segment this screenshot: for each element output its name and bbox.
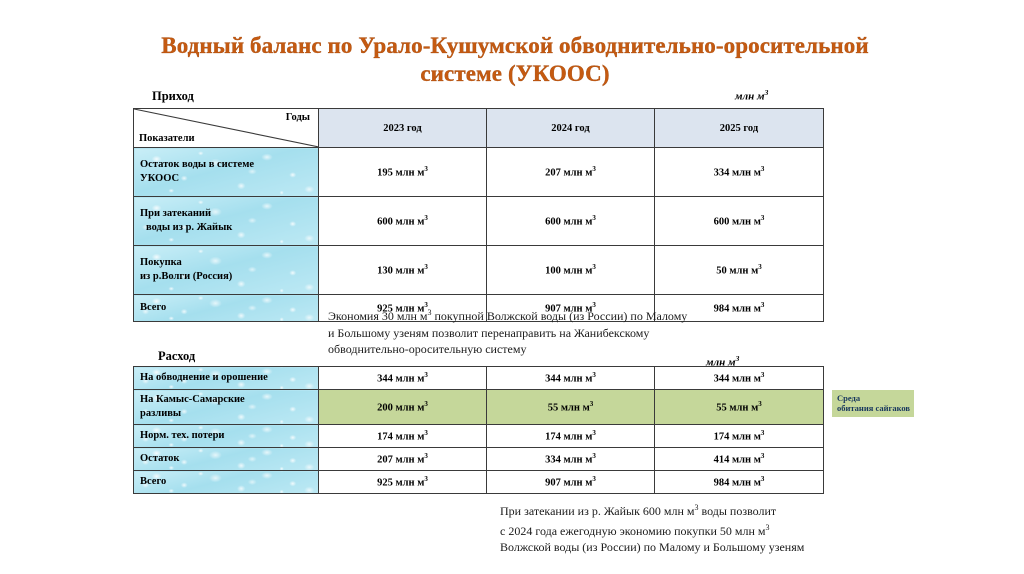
expense-row-label-1-line1: На Камыс-Самарские (140, 393, 318, 407)
expense-cell-4-2023-text: 925 млн м (377, 478, 424, 489)
expense-cell-3-2023-text: 207 млн м (377, 455, 424, 466)
expense-row-label-4: Всего (134, 471, 319, 494)
expense-cell-1-2023-sup: 3 (424, 400, 428, 408)
income-row-label-1-line1: При затеканий (140, 207, 318, 221)
expense-cell-2-2024-text: 174 млн м (545, 432, 592, 443)
income-cell-2-2024: 100 млн м3 (487, 246, 655, 295)
income-row-label-1: При затеканий воды из р. Жайык (134, 197, 319, 246)
expense-row-label-3: Остаток (134, 448, 319, 471)
expense-cell-1-2025-sup: 3 (758, 400, 762, 408)
income-header-row: Годы Показатели 2023 год 2024 год 2025 г… (134, 109, 824, 148)
income-cell-1-2023-text: 600 млн м (377, 217, 424, 228)
expense-cell-4-2025-sup: 3 (761, 475, 765, 483)
income-cell-1-2025-sup: 3 (761, 214, 765, 222)
expense-cell-3-2025-sup: 3 (761, 452, 765, 460)
expense-cell-3-2023-sup: 3 (424, 452, 428, 460)
expense-row-label-1-line2: разливы (140, 407, 318, 421)
expense-cell-1-2025: 55 млн м3 (655, 390, 824, 425)
income-cell-2-2025: 50 млн м3 (655, 246, 824, 295)
income-row-label-3: Всего (134, 295, 319, 322)
income-cell-1-2024: 600 млн м3 (487, 197, 655, 246)
expense-cell-4-2024: 907 млн м3 (487, 471, 655, 494)
middle-note-line-2: и Большому узеням позволит перенаправить… (328, 325, 868, 342)
table-row: На обводнение и орошение 344 млн м3 344 … (134, 367, 824, 390)
income-row-label-2: Покупка из р.Волги (Россия) (134, 246, 319, 295)
expense-cell-4-2025: 984 млн м3 (655, 471, 824, 494)
expense-cell-1-2024: 55 млн м3 (487, 390, 655, 425)
expense-cell-0-2025-sup: 3 (761, 371, 765, 379)
middle-note-line-1a: Экономия 30 млн м (328, 309, 427, 323)
expense-cell-2-2023-sup: 3 (424, 429, 428, 437)
expense-cell-0-2024-text: 344 млн м (545, 374, 592, 385)
table-row: При затеканий воды из р. Жайык 600 млн м… (134, 197, 824, 246)
income-row-label-2-line2: из р.Волги (Россия) (140, 270, 318, 284)
header-label-indicators: Показатели (139, 133, 195, 144)
saiga-habitat-callout: Среда обитания сайгаков (832, 390, 914, 417)
income-row-label-0: Остаток воды в системе УКООС (134, 148, 319, 197)
table-row: Остаток 207 млн м3 334 млн м3 414 млн м3 (134, 448, 824, 471)
expense-cell-1-2025-text: 55 млн м (716, 403, 758, 414)
income-cell-0-2024-sup: 3 (592, 165, 596, 173)
expense-cell-1-2024-sup: 3 (590, 400, 594, 408)
expense-cell-2-2023: 174 млн м3 (319, 425, 487, 448)
expense-row-label-3-line1: Остаток (140, 452, 318, 466)
table-row: Всего 925 млн м3 907 млн м3 984 млн м3 (134, 471, 824, 494)
income-cell-0-2025: 334 млн м3 (655, 148, 824, 197)
header-corner-cell: Годы Показатели (134, 109, 319, 148)
expense-cell-4-2025-text: 984 млн м (714, 478, 761, 489)
expense-row-label-0-line1: На обводнение и орошение (140, 371, 318, 385)
income-row-label-3-line1: Всего (140, 301, 318, 315)
income-cell-1-2025-text: 600 млн м (714, 217, 761, 228)
income-cell-1-2024-sup: 3 (592, 214, 596, 222)
income-units-label: млн м3 (735, 88, 768, 103)
expense-cell-2-2024-sup: 3 (592, 429, 596, 437)
expense-cell-1-2024-text: 55 млн м (548, 403, 590, 414)
income-cell-0-2023-text: 195 млн м (377, 168, 424, 179)
expense-cell-2-2025-text: 174 млн м (714, 432, 761, 443)
income-table: Годы Показатели 2023 год 2024 год 2025 г… (133, 108, 824, 322)
income-cell-2-2025-text: 50 млн м (716, 266, 758, 277)
middle-note-line-1: Экономия 30 млн м3 покупной Волжской вод… (328, 305, 868, 325)
income-units-text: млн м (735, 91, 765, 103)
income-cell-2-2023-sup: 3 (424, 263, 428, 271)
middle-note-line-1b: покупной Волжской воды (из России) по Ма… (431, 309, 687, 323)
income-cell-2-2023: 130 млн м3 (319, 246, 487, 295)
income-cell-0-2023: 195 млн м3 (319, 148, 487, 197)
income-cell-0-2025-sup: 3 (761, 165, 765, 173)
expense-cell-3-2024: 334 млн м3 (487, 448, 655, 471)
expense-cell-0-2023: 344 млн м3 (319, 367, 487, 390)
income-cell-1-2024-text: 600 млн м (545, 217, 592, 228)
expense-cell-4-2023-sup: 3 (424, 475, 428, 483)
income-row-label-2-line1: Покупка (140, 256, 318, 270)
middle-note-line-3: обводнительно-оросительную систему (328, 341, 868, 358)
income-cell-1-2023-sup: 3 (424, 214, 428, 222)
expense-cell-0-2025: 344 млн м3 (655, 367, 824, 390)
table-row: Покупка из р.Волги (Россия) 130 млн м3 1… (134, 246, 824, 295)
income-section-caption: Приход (152, 89, 194, 104)
header-label-years: Годы (286, 112, 310, 123)
saiga-callout-line-1: Среда (837, 393, 910, 403)
bottom-note-line-1b: воды позволит (699, 504, 777, 518)
income-header-year-2024: 2024 год (487, 109, 655, 148)
income-units-sup: 3 (765, 88, 769, 97)
expense-cell-1-2023-text: 200 млн м (377, 403, 424, 414)
income-row-label-1-line2: воды из р. Жайык (140, 221, 318, 235)
income-cell-2-2024-sup: 3 (592, 263, 596, 271)
expense-cell-0-2025-text: 344 млн м (714, 374, 761, 385)
expense-row-label-1: На Камыс-Самарские разливы (134, 390, 319, 425)
bottom-note-line-1a: При затекании из р. Жайык 600 млн м (500, 504, 695, 518)
expense-cell-1-2023: 200 млн м3 (319, 390, 487, 425)
income-cell-0-2024: 207 млн м3 (487, 148, 655, 197)
expense-row-label-2: Норм. тех. потери (134, 425, 319, 448)
expense-cell-3-2025: 414 млн м3 (655, 448, 824, 471)
expense-cell-3-2024-text: 334 млн м (545, 455, 592, 466)
income-cell-1-2025: 600 млн м3 (655, 197, 824, 246)
expense-cell-4-2024-text: 907 млн м (545, 478, 592, 489)
income-header-year-2023: 2023 год (319, 109, 487, 148)
expense-cell-2-2025-sup: 3 (761, 429, 765, 437)
bottom-note-line-1: При затекании из р. Жайык 600 млн м3 вод… (500, 500, 970, 520)
expense-cell-3-2025-text: 414 млн м (714, 455, 761, 466)
table-row: Остаток воды в системе УКООС 195 млн м3 … (134, 148, 824, 197)
income-cell-0-2025-text: 334 млн м (714, 168, 761, 179)
expense-table: На обводнение и орошение 344 млн м3 344 … (133, 366, 824, 494)
expense-cell-0-2023-sup: 3 (424, 371, 428, 379)
expense-cell-2-2023-text: 174 млн м (377, 432, 424, 443)
income-cell-0-2023-sup: 3 (424, 165, 428, 173)
income-cell-2-2024-text: 100 млн м (545, 266, 592, 277)
income-row-label-0-line1: Остаток воды в системе (140, 158, 318, 172)
bottom-note-line-2: с 2024 года ежегодную экономию покупки 5… (500, 520, 970, 540)
expense-row-label-4-line1: Всего (140, 475, 318, 489)
income-cell-2-2023-text: 130 млн м (377, 266, 424, 277)
income-row-label-0-line2: УКООС (140, 172, 318, 186)
expense-row-label-2-line1: Норм. тех. потери (140, 429, 318, 443)
income-cell-0-2024-text: 207 млн м (545, 168, 592, 179)
bottom-note-line-2-sup: 3 (766, 523, 770, 532)
income-cell-2-2025-sup: 3 (758, 263, 762, 271)
expense-cell-0-2024-sup: 3 (592, 371, 596, 379)
bottom-note: При затекании из р. Жайык 600 млн м3 вод… (500, 500, 970, 556)
expense-cell-2-2025: 174 млн м3 (655, 425, 824, 448)
income-cell-1-2023: 600 млн м3 (319, 197, 487, 246)
expense-cell-3-2024-sup: 3 (592, 452, 596, 460)
middle-note: Экономия 30 млн м3 покупной Волжской вод… (328, 305, 868, 358)
expense-cell-3-2023: 207 млн м3 (319, 448, 487, 471)
expense-cell-4-2023: 925 млн м3 (319, 471, 487, 494)
page-title: Водный баланс по Урало-Кушумской обводни… (150, 32, 880, 88)
expense-section-caption: Расход (158, 349, 195, 364)
income-header-year-2025: 2025 год (655, 109, 824, 148)
expense-cell-0-2023-text: 344 млн м (377, 374, 424, 385)
expense-row-label-0: На обводнение и орошение (134, 367, 319, 390)
expense-cell-0-2024: 344 млн м3 (487, 367, 655, 390)
expense-cell-4-2024-sup: 3 (592, 475, 596, 483)
expense-cell-2-2024: 174 млн м3 (487, 425, 655, 448)
saiga-callout-line-2: обитания сайгаков (837, 403, 910, 413)
bottom-note-line-2a: с 2024 года ежегодную экономию покупки 5… (500, 524, 766, 538)
bottom-note-line-3: Волжской воды (из России) по Малому и Бо… (500, 539, 970, 556)
table-row: Норм. тех. потери 174 млн м3 174 млн м3 … (134, 425, 824, 448)
expense-units-sup: 3 (736, 354, 740, 363)
table-row: На Камыс-Самарские разливы 200 млн м3 55… (134, 390, 824, 425)
